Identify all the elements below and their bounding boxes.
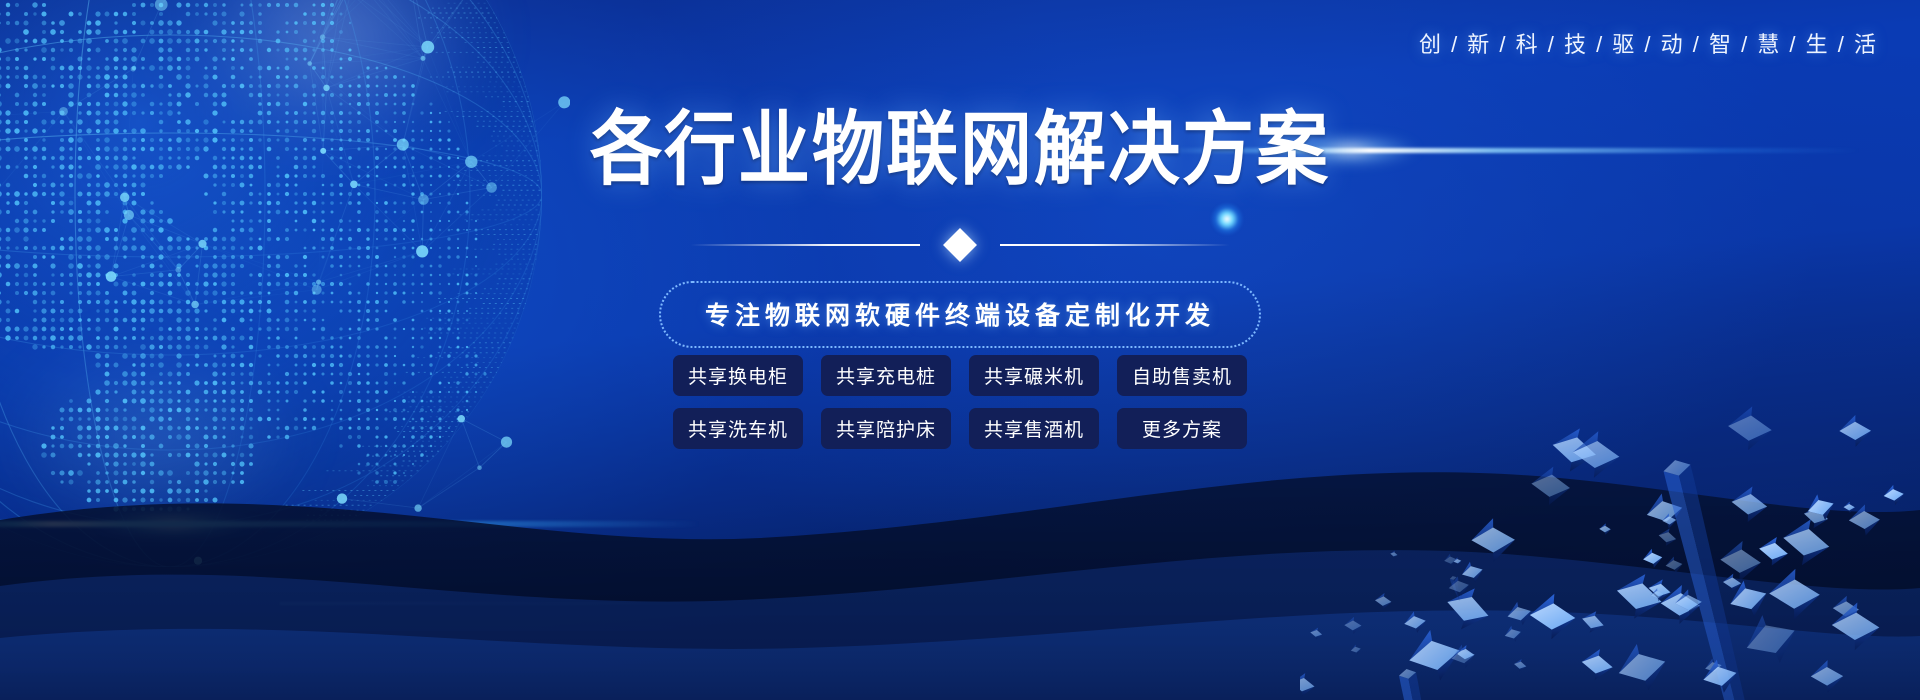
top-right-tagline: 创 / 新 / 科 / 技 / 驱 / 动 / 智 / 慧 / 生 / 活 xyxy=(1419,27,1878,59)
solution-button-swap-cabinet[interactable]: 共享换电柜 xyxy=(673,355,803,396)
divider-rule-left xyxy=(690,244,920,246)
banner-content: 创 / 新 / 科 / 技 / 驱 / 动 / 智 / 慧 / 生 / 活 各行… xyxy=(0,0,1920,700)
solution-button-car-wash[interactable]: 共享洗车机 xyxy=(673,408,803,449)
subtitle-pill: 专注物联网软硬件终端设备定制化开发 xyxy=(659,281,1261,348)
hero-banner: 创 / 新 / 科 / 技 / 驱 / 动 / 智 / 慧 / 生 / 活 各行… xyxy=(0,0,1920,700)
solution-button-row-1: 共享换电柜 共享充电桩 共享碾米机 自助售卖机 xyxy=(673,355,1247,396)
solution-button-rice-mill[interactable]: 共享碾米机 xyxy=(969,355,1099,396)
diamond-icon xyxy=(943,228,977,262)
solution-button-care-bed[interactable]: 共享陪护床 xyxy=(821,408,951,449)
tagline-text: 创 / 新 / 科 / 技 / 驱 / 动 / 智 / 慧 / 生 / 活 xyxy=(1419,32,1878,57)
solution-button-charging-pile[interactable]: 共享充电桩 xyxy=(821,355,951,396)
page-title: 各行业物联网解决方案 xyxy=(0,104,1920,194)
solution-button-row-2: 共享洗车机 共享陪护床 共享售酒机 更多方案 xyxy=(673,408,1247,449)
diamond-divider xyxy=(690,228,1230,262)
solution-button-liquor-machine[interactable]: 共享售酒机 xyxy=(969,408,1099,449)
solution-button-more[interactable]: 更多方案 xyxy=(1117,408,1247,449)
solution-button-vending-machine[interactable]: 自助售卖机 xyxy=(1117,355,1247,396)
subtitle-text: 专注物联网软硬件终端设备定制化开发 xyxy=(705,301,1215,330)
divider-rule-right xyxy=(1000,244,1230,246)
solution-button-grid: 共享换电柜 共享充电桩 共享碾米机 自助售卖机 共享洗车机 共享陪护床 共享售酒… xyxy=(673,355,1247,449)
